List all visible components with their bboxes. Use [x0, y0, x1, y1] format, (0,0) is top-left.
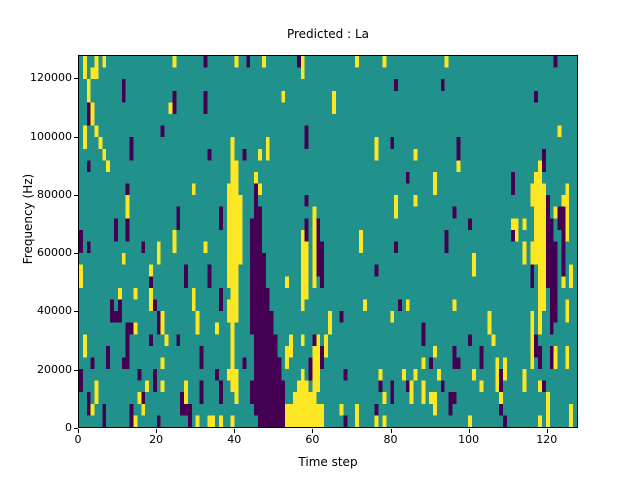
heatmap-plot-area: [78, 55, 578, 428]
x-tick-mark: [469, 429, 470, 433]
y-axis-label: Frequency (Hz): [21, 139, 35, 299]
y-tick-mark: [74, 137, 78, 138]
x-tick-mark: [156, 429, 157, 433]
y-tick-label: 40000: [6, 304, 72, 317]
x-tick-mark: [391, 429, 392, 433]
y-tick-label: 80000: [6, 188, 72, 201]
heatmap-canvas: [79, 56, 577, 427]
y-tick-mark: [74, 311, 78, 312]
y-tick-label: 20000: [6, 363, 72, 376]
x-tick-label: 40: [204, 433, 264, 446]
x-tick-label: 80: [361, 433, 421, 446]
y-tick-mark: [74, 253, 78, 254]
x-tick-label: 120: [517, 433, 577, 446]
y-tick-mark: [74, 370, 78, 371]
x-tick-mark: [234, 429, 235, 433]
y-tick-mark: [74, 428, 78, 429]
x-tick-mark: [547, 429, 548, 433]
y-tick-label: 120000: [6, 71, 72, 84]
x-tick-label: 60: [282, 433, 342, 446]
x-axis-label: Time step: [78, 455, 578, 469]
x-tick-label: 0: [48, 433, 108, 446]
page-title: Predicted : La: [78, 27, 578, 41]
y-tick-label: 100000: [6, 130, 72, 143]
x-tick-label: 20: [126, 433, 186, 446]
x-tick-label: 100: [439, 433, 499, 446]
x-tick-mark: [78, 429, 79, 433]
y-tick-label: 0: [6, 421, 72, 434]
x-tick-mark: [312, 429, 313, 433]
y-tick-mark: [74, 78, 78, 79]
y-tick-label: 60000: [6, 246, 72, 259]
y-tick-mark: [74, 195, 78, 196]
matplotlib-figure: Predicted : La Time step Frequency (Hz) …: [0, 0, 640, 480]
